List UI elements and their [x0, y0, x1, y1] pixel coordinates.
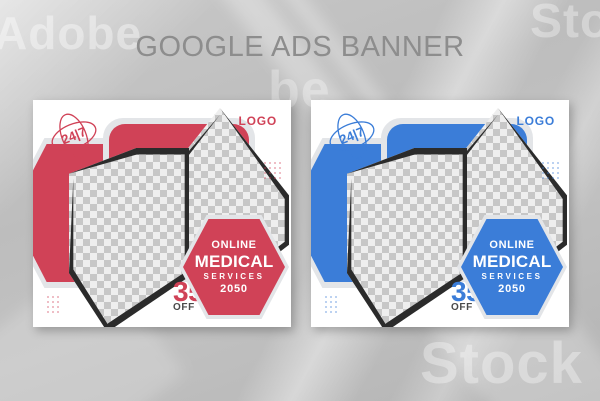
badge-line-online: ONLINE: [489, 240, 534, 251]
badge-line-medical: MEDICAL: [195, 253, 274, 270]
banner-card-red[interactable]: 24|7 LOGO UP TO 35 %: [33, 100, 291, 327]
badge-year: 2050: [220, 284, 248, 295]
dot-grid-bottom-left: [325, 296, 337, 313]
dot-grid-top-right: [542, 162, 559, 179]
badge-line-services: SERVICES: [481, 273, 542, 281]
brand-logo[interactable]: LOGO: [238, 114, 277, 128]
banner-content: 24|7 LOGO UP TO 35 %: [311, 100, 569, 327]
banner-card-blue[interactable]: 24|7 LOGO UP TO 35 %: [311, 100, 569, 327]
brand-logo[interactable]: LOGO: [516, 114, 555, 128]
dot-grid-bottom-left: [47, 296, 59, 313]
badge-line-medical: MEDICAL: [473, 253, 552, 270]
page-title: GOOGLE ADS BANNER: [0, 31, 600, 64]
banner-content: 24|7 LOGO UP TO 35 %: [33, 100, 291, 327]
badge-line-services: SERVICES: [203, 273, 264, 281]
dot-grid-top-right: [264, 162, 281, 179]
stamp-24-7: 24|7: [47, 110, 101, 162]
badge-line-online: ONLINE: [211, 240, 256, 251]
badge-year: 2050: [498, 284, 526, 295]
stamp-24-7: 24|7: [325, 110, 379, 162]
screenshot-root: Adobe Adobe be Stock Sto Adobe Stock | #…: [0, 0, 600, 401]
